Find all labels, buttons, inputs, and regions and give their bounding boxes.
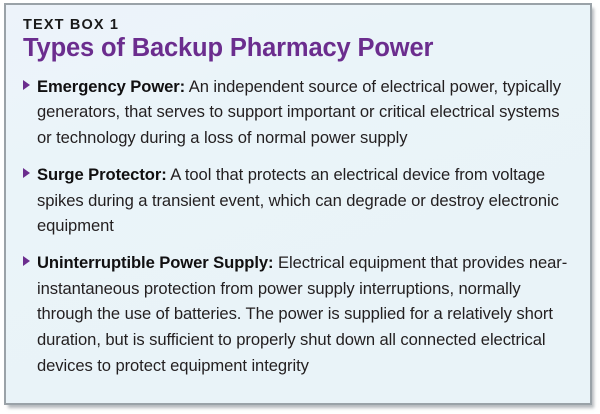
definition-list: Emergency Power: An independent source o…	[23, 74, 574, 379]
list-item: Emergency Power: An independent source o…	[23, 74, 574, 151]
list-item: Uninterruptible Power Supply: Electrical…	[23, 250, 574, 379]
triangle-right-icon	[23, 80, 30, 90]
text-box-card: TEXT BOX 1 Types of Backup Pharmacy Powe…	[4, 3, 592, 405]
triangle-right-icon	[23, 256, 30, 266]
list-item: Surge Protector: A tool that protects an…	[23, 162, 574, 239]
definition-term: Surge Protector:	[37, 165, 167, 184]
card-content: TEXT BOX 1 Types of Backup Pharmacy Powe…	[6, 5, 590, 379]
definition-term: Uninterruptible Power Supply:	[37, 253, 273, 272]
triangle-right-icon	[23, 168, 30, 178]
text-box-kicker: TEXT BOX 1	[23, 18, 574, 33]
page-title: Types of Backup Pharmacy Power	[23, 34, 574, 63]
definition-term: Emergency Power:	[37, 77, 185, 96]
